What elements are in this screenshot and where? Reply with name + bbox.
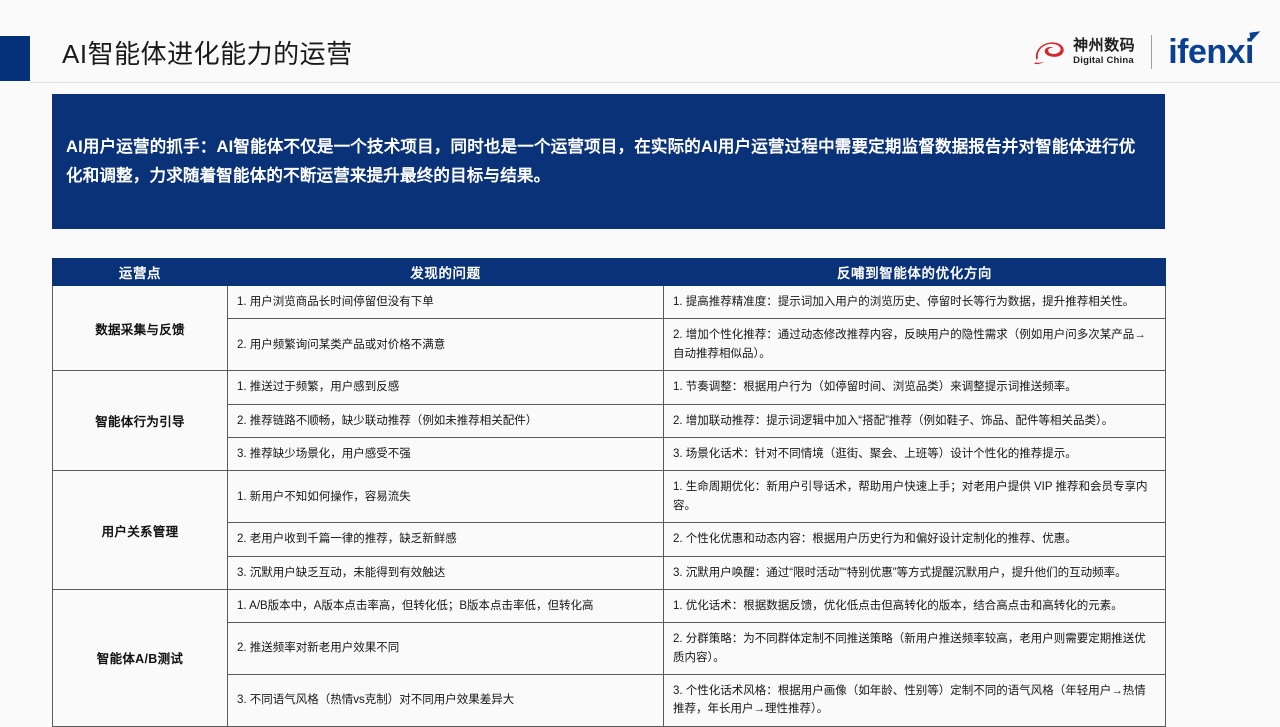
callout-banner-text: AI用户运营的抓手：AI智能体不仅是一个技术项目，同时也是一个运营项目，在实际的… bbox=[52, 133, 1165, 191]
problem-cell: 2. 推送频率对新老用户效果不同 bbox=[228, 623, 664, 675]
optimization-cell: 3. 场景化话术：针对不同情境（逛街、聚会、上班等）设计个性化的推荐提示。 bbox=[664, 437, 1166, 470]
problem-cell: 3. 沉默用户缺乏互动，未能得到有效触达 bbox=[228, 556, 664, 589]
digital-china-logo: 神州数码 Digital China bbox=[1032, 38, 1135, 66]
optimization-cell: 1. 节奏调整：根据用户行为（如停留时间、浏览品类）来调整提示词推送频率。 bbox=[664, 371, 1166, 404]
category-cell: 用户关系管理 bbox=[53, 471, 228, 590]
table-head: 运营点 发现的问题 反哺到智能体的优化方向 bbox=[53, 259, 1166, 286]
category-cell: 数据采集与反馈 bbox=[53, 286, 228, 371]
page-title: AI智能体进化能力的运营 bbox=[62, 34, 353, 74]
optimization-cell: 2. 分群策略：为不同群体定制不同推送策略（新用户推送频率较高，老用户则需要定期… bbox=[664, 623, 1166, 675]
operations-table: 运营点 发现的问题 反哺到智能体的优化方向 数据采集与反馈1. 用户浏览商品长时… bbox=[52, 258, 1166, 727]
table-body: 数据采集与反馈1. 用户浏览商品长时间停留但没有下单1. 提高推荐精准度：提示词… bbox=[53, 286, 1166, 727]
slide-header: AI智能体进化能力的运营 神州数码 Digital China ifenxi bbox=[0, 0, 1280, 83]
problem-cell: 3. 推荐缺少场景化，用户感受不强 bbox=[228, 437, 664, 470]
table-row: 智能体行为引导1. 推送过于频繁，用户感到反感1. 节奏调整：根据用户行为（如停… bbox=[53, 371, 1166, 404]
column-header-problem: 发现的问题 bbox=[228, 259, 664, 286]
ifenxi-wordmark: ifenxi bbox=[1168, 33, 1254, 71]
ifenxi-flag-icon bbox=[1249, 31, 1261, 41]
optimization-cell: 2. 个性化优惠和动态内容：根据用户历史行为和偏好设计定制化的推荐、优惠。 bbox=[664, 523, 1166, 556]
optimization-cell: 2. 增加个性化推荐：通过动态修改推荐内容，反映用户的隐性需求（例如用户问多次某… bbox=[664, 319, 1166, 371]
optimization-cell: 1. 优化话术：根据数据反馈，优化低点击但高转化的版本，结合高点击和高转化的元素… bbox=[664, 589, 1166, 622]
digital-china-en: Digital China bbox=[1073, 56, 1135, 66]
logo-zone: 神州数码 Digital China ifenxi bbox=[1032, 28, 1258, 76]
table-row: 智能体A/B测试1. A/B版本中，A版本点击率高，但转化低；B版本点击率低，但… bbox=[53, 589, 1166, 622]
problem-cell: 2. 推荐链路不顺畅，缺少联动推荐（例如未推荐相关配件） bbox=[228, 404, 664, 437]
table-row: 数据采集与反馈1. 用户浏览商品长时间停留但没有下单1. 提高推荐精准度：提示词… bbox=[53, 286, 1166, 319]
problem-cell: 1. A/B版本中，A版本点击率高，但转化低；B版本点击率低，但转化高 bbox=[228, 589, 664, 622]
ifenxi-logo: ifenxi bbox=[1168, 35, 1258, 69]
problem-cell: 3. 不同语气风格（热情vs克制）对不同用户效果差异大 bbox=[228, 675, 664, 727]
slide-root: AI智能体进化能力的运营 神州数码 Digital China ifenxi A bbox=[0, 0, 1280, 720]
category-cell: 智能体A/B测试 bbox=[53, 589, 228, 726]
optimization-cell: 2. 增加联动推荐：提示词逻辑中加入“搭配”推荐（例如鞋子、饰品、配件等相关品类… bbox=[664, 404, 1166, 437]
problem-cell: 1. 用户浏览商品长时间停留但没有下单 bbox=[228, 286, 664, 319]
callout-banner: AI用户运营的抓手：AI智能体不仅是一个技术项目，同时也是一个运营项目，在实际的… bbox=[52, 94, 1165, 229]
table-row: 用户关系管理1. 新用户不知如何操作，容易流失1. 生命周期优化：新用户引导话术… bbox=[53, 471, 1166, 523]
header-divider bbox=[30, 82, 1280, 83]
problem-cell: 2. 老用户收到千篇一律的推荐，缺乏新鲜感 bbox=[228, 523, 664, 556]
logo-separator bbox=[1151, 35, 1152, 69]
red-swoosh-icon bbox=[1032, 39, 1066, 66]
problem-cell: 2. 用户频繁询问某类产品或对价格不满意 bbox=[228, 319, 664, 371]
optimization-cell: 3. 沉默用户唤醒：通过“限时活动”“特别优惠”等方式提醒沉默用户，提升他们的互… bbox=[664, 556, 1166, 589]
optimization-cell: 3. 个性化话术风格：根据用户画像（如年龄、性别等）定制不同的语气风格（年轻用户… bbox=[664, 675, 1166, 727]
category-cell: 智能体行为引导 bbox=[53, 371, 228, 471]
table-header-row: 运营点 发现的问题 反哺到智能体的优化方向 bbox=[53, 259, 1166, 286]
column-header-optimization: 反哺到智能体的优化方向 bbox=[664, 259, 1166, 286]
digital-china-wordmark: 神州数码 Digital China bbox=[1073, 38, 1135, 66]
column-header-operation-point: 运营点 bbox=[53, 259, 228, 286]
digital-china-cn: 神州数码 bbox=[1073, 38, 1135, 53]
problem-cell: 1. 推送过于频繁，用户感到反感 bbox=[228, 371, 664, 404]
problem-cell: 1. 新用户不知如何操作，容易流失 bbox=[228, 471, 664, 523]
optimization-cell: 1. 生命周期优化：新用户引导话术，帮助用户快速上手；对老用户提供 VIP 推荐… bbox=[664, 471, 1166, 523]
title-accent-bar bbox=[0, 36, 30, 81]
optimization-cell: 1. 提高推荐精准度：提示词加入用户的浏览历史、停留时长等行为数据，提升推荐相关… bbox=[664, 286, 1166, 319]
